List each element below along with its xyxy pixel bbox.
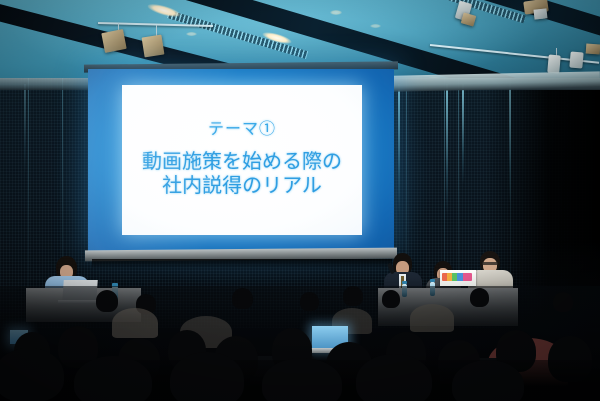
conference-room-photo: テーマ① 動画施策を始める際の 社内説得のリアル	[0, 0, 600, 401]
slide-heading: テーマ①	[208, 121, 276, 139]
audience-shoulders	[112, 308, 158, 338]
ceiling-lamp	[370, 24, 381, 28]
track-spotlight	[569, 51, 583, 68]
track-spotlight	[101, 29, 126, 53]
audience-head	[382, 290, 400, 308]
bottle-cap	[402, 281, 407, 284]
projection-screen: テーマ① 動画施策を始める際の 社内説得のリアル	[88, 69, 394, 268]
track-spotlight	[142, 35, 165, 58]
audience-head	[452, 360, 524, 401]
wall-light-strip	[24, 84, 26, 174]
event-logo-sign	[440, 270, 476, 286]
audience-head	[262, 358, 342, 401]
slide-line-two: 社内説得のリアル	[162, 174, 322, 198]
eyeglasses	[482, 262, 498, 265]
ceiling-lamp	[186, 32, 197, 36]
audience-head	[0, 348, 64, 401]
slide-background: テーマ① 動画施策を始める際の 社内説得のリアル	[88, 69, 394, 251]
bottle-cap	[430, 279, 435, 282]
audience-head	[74, 356, 152, 401]
audience-head	[343, 286, 363, 306]
track-spotlight	[547, 55, 561, 74]
audience-area	[0, 286, 600, 401]
audience-head	[553, 292, 573, 312]
slide-line-one: 動画施策を始める際の	[142, 150, 342, 174]
audience-head	[96, 290, 118, 312]
audience-head	[300, 292, 319, 311]
audience-shoulders	[410, 304, 454, 332]
wall-light-strip	[398, 84, 400, 214]
spotlight-head	[534, 8, 548, 19]
audience-head	[232, 288, 253, 309]
wall-light-strip	[446, 84, 448, 214]
audience-head	[170, 352, 244, 401]
screen-drop-shadow	[92, 259, 392, 269]
ceiling-lamp	[330, 10, 342, 15]
slide-content: テーマ① 動画施策を始める際の 社内説得のリアル	[122, 85, 362, 235]
audience-head	[470, 288, 489, 307]
spotlight-head	[586, 44, 600, 55]
event-logo	[442, 273, 472, 281]
wall-light-strip	[462, 84, 464, 184]
audience-head	[356, 354, 432, 401]
